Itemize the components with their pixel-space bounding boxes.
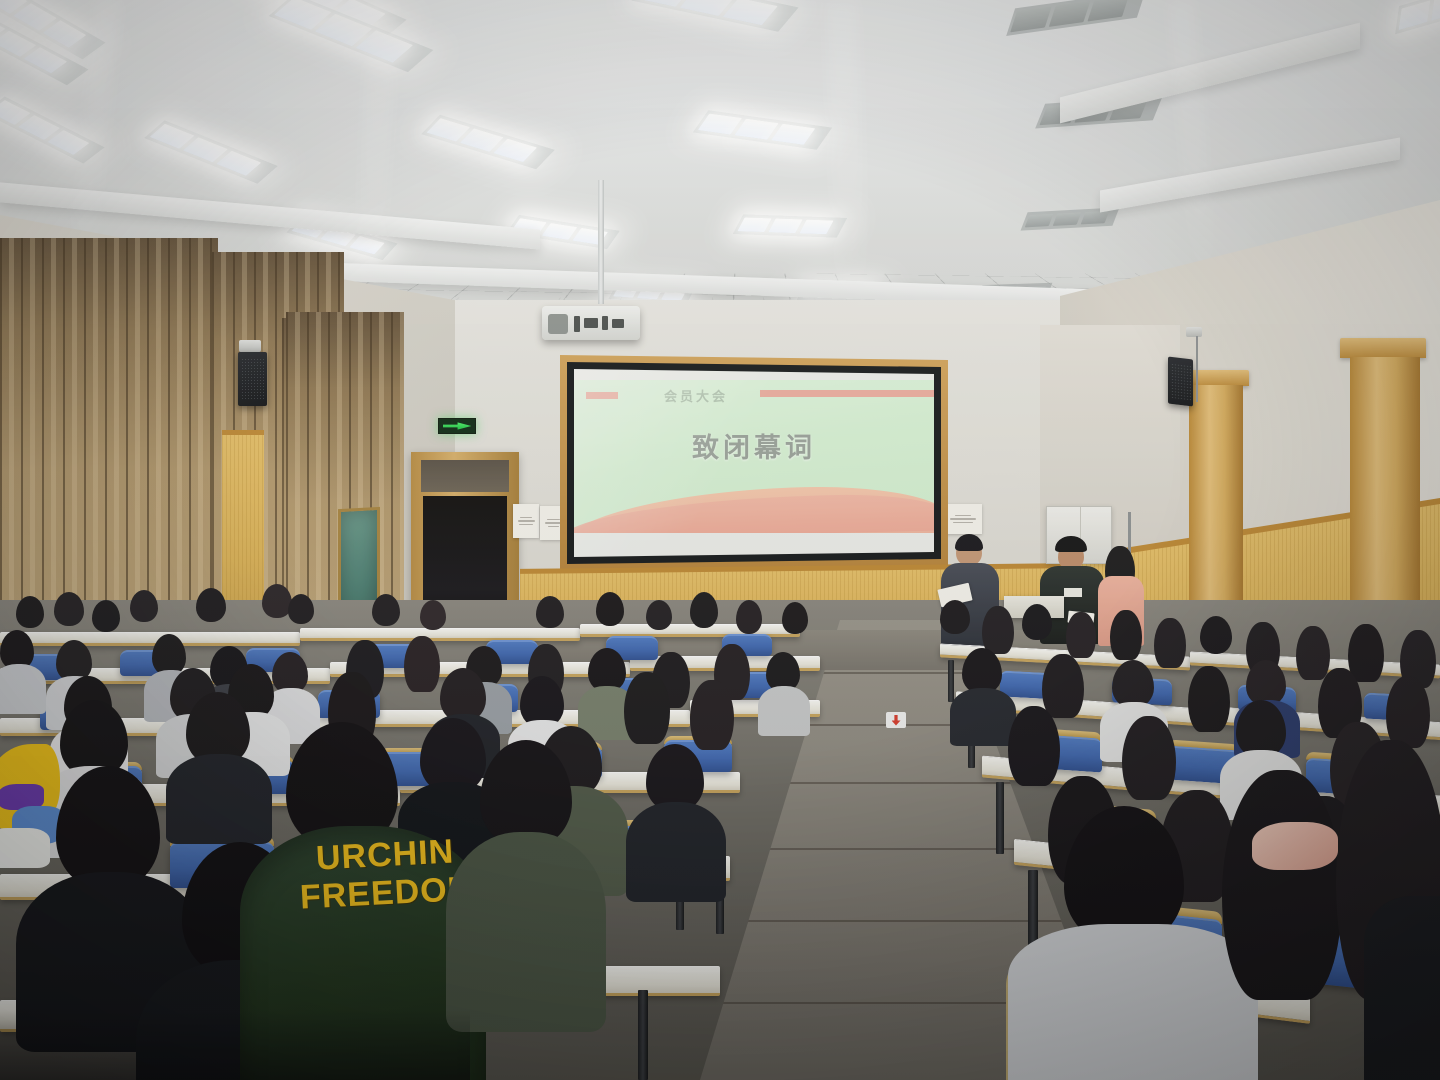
head: [596, 592, 624, 626]
projector-mount-pole: [598, 180, 604, 304]
floor-direction-marker: [886, 712, 906, 728]
speaker-mesh: [1171, 362, 1191, 400]
audience-member: [596, 592, 624, 626]
fluorescent-troffer: [733, 214, 847, 237]
head: [16, 596, 44, 628]
audience-member: [646, 744, 704, 812]
speaker-mount-right: [1186, 327, 1202, 337]
hair: [624, 672, 670, 744]
audience-member: [372, 594, 400, 626]
projector-vents: [584, 318, 598, 328]
audience-member: [736, 600, 762, 634]
print-white: [0, 828, 50, 868]
audience-member: [420, 718, 486, 794]
wall-notice-left: [513, 504, 539, 538]
chest-badge: [1064, 588, 1082, 597]
audience-member: [1112, 660, 1154, 708]
foreground-shadow: [0, 1010, 470, 1080]
hair: [1188, 666, 1230, 732]
audience-member: [982, 606, 1014, 654]
audience-member: [520, 676, 564, 728]
audience-member: [288, 594, 314, 624]
audience-member: [186, 692, 250, 766]
fluorescent-troffer: [693, 110, 832, 149]
audience-member-urchin-jacket: [286, 722, 398, 850]
head: [646, 600, 672, 630]
audience-member: [56, 766, 160, 890]
ceiling-soffit: [1100, 138, 1400, 213]
audience-member: [1386, 676, 1430, 748]
desk-leg: [948, 660, 954, 702]
hair: [1222, 770, 1342, 1000]
slide-title-text: 致闭幕词: [574, 426, 934, 465]
hair: [1386, 676, 1430, 748]
desk-row: [0, 632, 300, 646]
head: [54, 592, 84, 626]
projector-vents: [602, 316, 608, 330]
exit-sign: [438, 418, 476, 434]
audience-member: [420, 600, 446, 630]
speaker-cable: [1196, 336, 1198, 402]
pilaster-cap-far: [1340, 338, 1426, 358]
hair: [1110, 610, 1142, 660]
audience-member: [440, 668, 486, 722]
hair: [1008, 706, 1060, 786]
head: [782, 602, 808, 634]
audience-member: [588, 648, 626, 692]
speaker-mesh: [241, 358, 264, 399]
projector-lens: [548, 314, 568, 334]
head: [130, 590, 158, 622]
head: [420, 600, 446, 630]
desk-leg: [996, 782, 1004, 854]
torso: [1364, 896, 1440, 1080]
audience-member: [962, 648, 1002, 694]
audience-member: [1064, 806, 1184, 946]
presentation-slide: 会员大会 致闭幕词: [574, 380, 934, 533]
cap: [1055, 536, 1087, 552]
scarf: [1252, 822, 1338, 870]
audience-member: [1236, 700, 1286, 758]
audience-member: [1154, 618, 1186, 668]
head: [92, 600, 120, 632]
fluorescent-troffer: [144, 120, 277, 183]
slide-bottom-wave-2: [574, 492, 934, 533]
audience-member: [690, 680, 734, 750]
audience-member: [1110, 610, 1142, 660]
hair: [955, 534, 983, 551]
torso: [1008, 924, 1258, 1080]
audience-member: [1222, 770, 1342, 1000]
head: [1200, 616, 1232, 654]
audience-member: [782, 602, 808, 634]
exit-arrow-icon: [443, 422, 472, 431]
audience-member: [536, 596, 564, 628]
fluorescent-troffer: [421, 115, 554, 169]
lens-glare: [1167, 0, 1221, 301]
ceiling-soffit: [1060, 23, 1360, 124]
audience-member: [624, 672, 670, 744]
hair: [982, 606, 1014, 654]
torso: [950, 688, 1016, 746]
projection-screen[interactable]: 会员大会 致闭幕词: [574, 369, 934, 557]
wall-speaker-right: [1168, 356, 1193, 406]
down-arrow-icon: [892, 715, 901, 726]
audience-member: [940, 600, 970, 634]
desk-leg: [638, 990, 648, 1080]
audience-member: [54, 592, 84, 626]
torso: [446, 832, 606, 1032]
torso: [626, 802, 726, 902]
hair: [1154, 618, 1186, 668]
audience-member: [1008, 706, 1060, 786]
hair: [690, 680, 734, 750]
slide-accent-bar-right: [760, 390, 934, 397]
audience-member: [272, 652, 308, 694]
jacket-text-line1: URCHIN: [315, 834, 455, 876]
head: [536, 596, 564, 628]
wall-notice-right: [944, 504, 982, 534]
slide-accent-bar-left: [586, 392, 618, 399]
audience-member: [480, 740, 572, 848]
audience-member: [16, 596, 44, 628]
head: [1022, 604, 1052, 640]
projector-vents: [612, 319, 624, 328]
head: [736, 600, 762, 634]
lecture-hall-photo: 会员大会 致闭幕词: [0, 0, 1440, 1080]
head: [690, 592, 718, 628]
wainscot-cap-left: [222, 430, 264, 435]
projector-vents: [574, 316, 580, 332]
slide-header-text: 会员大会: [664, 386, 728, 405]
torso: [758, 686, 810, 736]
window-curtain-left: [0, 238, 218, 658]
audience-member: [404, 636, 440, 692]
fluorescent-troffer: [0, 97, 105, 164]
head: [372, 594, 400, 626]
head: [940, 600, 970, 634]
head: [196, 588, 226, 622]
audience-member: [1022, 604, 1052, 640]
head: [1112, 660, 1154, 708]
audience-member: [92, 600, 120, 632]
hair: [1066, 612, 1096, 658]
audience-member: [1188, 666, 1230, 732]
head: [288, 594, 314, 624]
audience-member: [196, 588, 226, 622]
audience-member: [130, 590, 158, 622]
audience-member: [646, 600, 672, 630]
audience-member: [766, 652, 800, 692]
fluorescent-troffer: [631, 0, 798, 32]
torso: [166, 754, 272, 844]
speaker-mount-left: [239, 340, 261, 352]
wall-speaker-left: [238, 352, 267, 406]
audience-member: [1066, 612, 1096, 658]
torso: [0, 664, 46, 714]
audience-member: [690, 592, 718, 628]
hair: [404, 636, 440, 692]
audience-member: [0, 630, 34, 670]
hair: [1122, 716, 1176, 800]
door-transom: [421, 460, 509, 492]
audience-member: [1122, 716, 1176, 800]
fluorescent-troffer-off: [1006, 0, 1146, 36]
audience-member: [1200, 616, 1232, 654]
fluorescent-troffer: [1395, 0, 1440, 34]
